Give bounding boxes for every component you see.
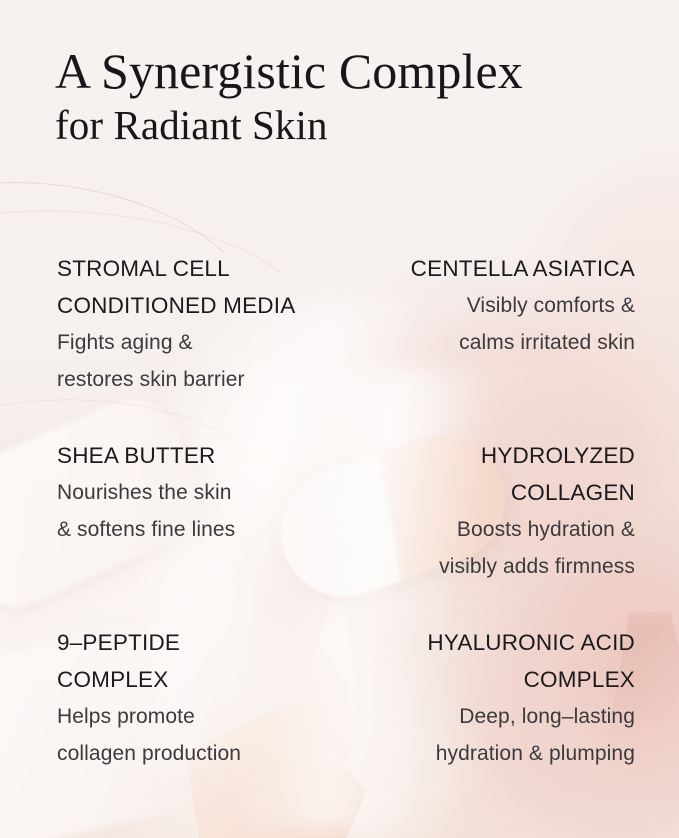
page-title: A Synergistic Complex for Radiant Skin: [55, 42, 523, 150]
headline-line-2: for Radiant Skin: [55, 100, 523, 150]
ingredient-name: STROMAL CELL CONDITIONED MEDIA: [57, 250, 346, 324]
ingredient-item-stromal-cell-conditioned-media: STROMAL CELL CONDITIONED MEDIA Fights ag…: [0, 250, 346, 398]
ingredient-benefit: Nourishes the skin & softens fine lines: [57, 474, 346, 548]
ingredient-item-hydrolyzed-collagen: HYDROLYZED COLLAGEN Boosts hydration & v…: [346, 437, 679, 585]
headline-line-1: A Synergistic Complex: [55, 42, 523, 100]
ingredient-name: HYDROLYZED COLLAGEN: [346, 437, 635, 511]
ingredient-row: 9–PEPTIDE COMPLEX Helps promote collagen…: [0, 624, 679, 772]
ingredient-benefit: Visibly comforts & calms irritated skin: [346, 287, 635, 361]
ingredient-row: STROMAL CELL CONDITIONED MEDIA Fights ag…: [0, 250, 679, 398]
ingredient-grid: STROMAL CELL CONDITIONED MEDIA Fights ag…: [0, 250, 679, 772]
ingredient-name: HYALURONIC ACID COMPLEX: [346, 624, 635, 698]
ingredient-row: SHEA BUTTER Nourishes the skin & softens…: [0, 437, 679, 585]
ingredient-benefit: Deep, long–lasting hydration & plumping: [346, 698, 635, 772]
ingredient-item-centella-asiatica: CENTELLA ASIATICA Visibly comforts & cal…: [346, 250, 679, 398]
ingredient-item-9-peptide-complex: 9–PEPTIDE COMPLEX Helps promote collagen…: [0, 624, 346, 772]
ingredient-name: 9–PEPTIDE COMPLEX: [57, 624, 346, 698]
ingredient-benefit: Fights aging & restores skin barrier: [57, 324, 346, 398]
ingredient-name: SHEA BUTTER: [57, 437, 346, 474]
ingredient-benefit: Helps promote collagen production: [57, 698, 346, 772]
ingredient-name: CENTELLA ASIATICA: [346, 250, 635, 287]
poster-content: A Synergistic Complex for Radiant Skin S…: [0, 0, 679, 838]
ingredient-poster: A Synergistic Complex for Radiant Skin S…: [0, 0, 679, 838]
ingredient-item-hyaluronic-acid-complex: HYALURONIC ACID COMPLEX Deep, long–lasti…: [346, 624, 679, 772]
ingredient-item-shea-butter: SHEA BUTTER Nourishes the skin & softens…: [0, 437, 346, 585]
ingredient-benefit: Boosts hydration & visibly adds firmness: [346, 511, 635, 585]
